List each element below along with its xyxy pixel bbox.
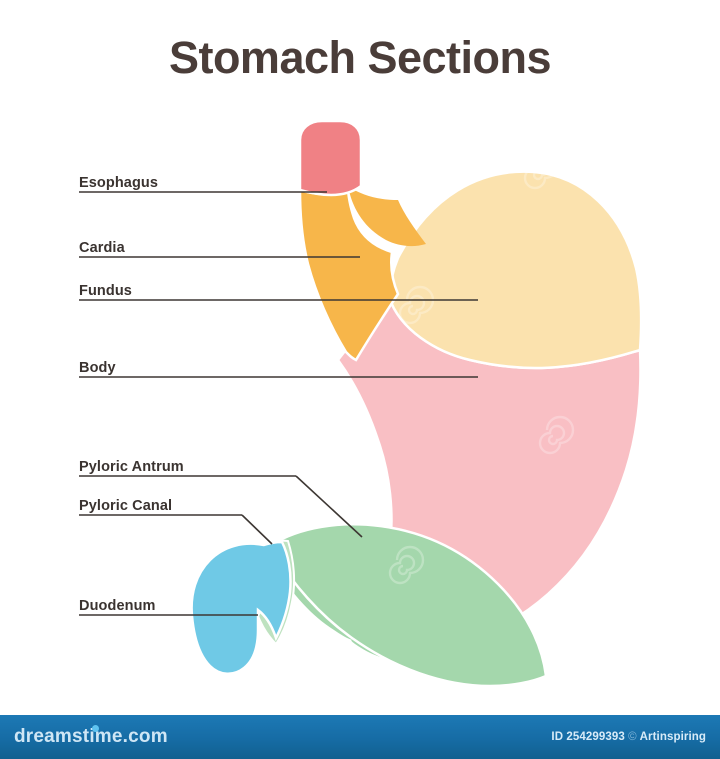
image-id: ID 254299393 <box>551 731 624 743</box>
label-fundus: Fundus <box>79 283 132 299</box>
leader-line-pyloric-canal-angled <box>242 515 272 544</box>
stomach-sections-diagram-page: Stomach Sections <box>0 0 720 759</box>
author-name: Artinspiring <box>640 731 706 743</box>
label-pyloric-canal: Pyloric Canal <box>79 498 172 514</box>
dreamstime-logo-dot <box>92 725 99 732</box>
region-esophagus <box>300 121 361 195</box>
stock-photo-footer-bar: dreamstime.com ID 254299393 © Artinspiri… <box>0 715 720 759</box>
dreamstime-logo[interactable]: dreamstime.com <box>14 726 168 748</box>
dreamstime-logo-text: dreamstime.com <box>14 726 168 747</box>
label-duodenum: Duodenum <box>79 598 156 614</box>
image-credit: ID 254299393 © Artinspiring <box>551 731 706 743</box>
region-duodenum <box>192 542 291 674</box>
copyright-icon: © <box>628 731 637 743</box>
label-body: Body <box>79 360 116 376</box>
label-cardia: Cardia <box>79 240 125 256</box>
label-esophagus: Esophagus <box>79 175 158 191</box>
region-fundus <box>389 172 641 368</box>
label-pyloric-antrum: Pyloric Antrum <box>79 459 184 475</box>
